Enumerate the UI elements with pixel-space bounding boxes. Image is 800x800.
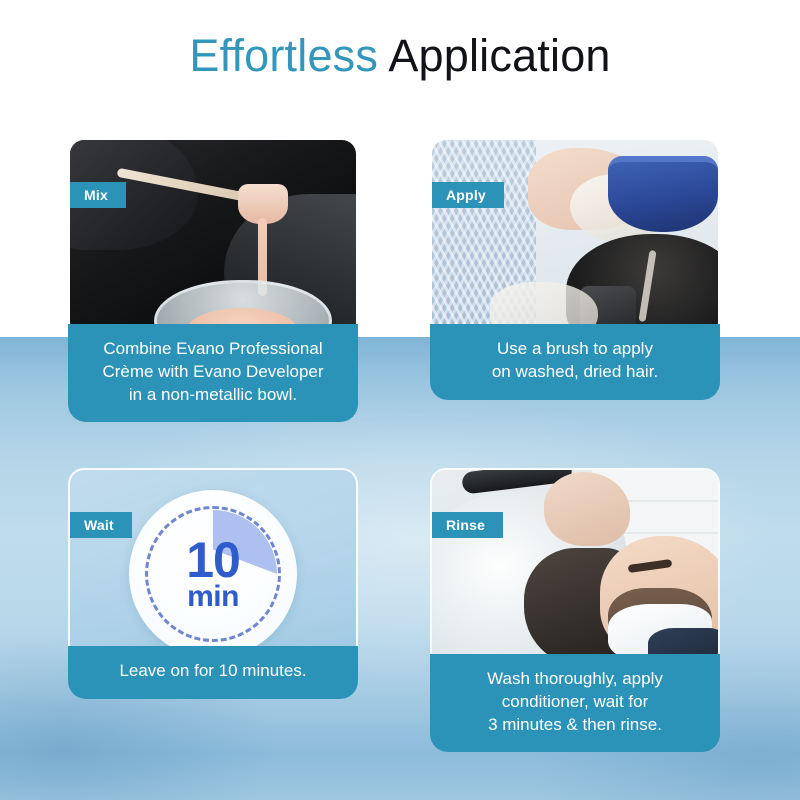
- step-image-wait: 10 min Wait: [68, 468, 358, 668]
- timer-icon: 10 min: [129, 490, 297, 658]
- step-badge-wait: Wait: [68, 512, 132, 538]
- page-title: Effortless Application: [0, 30, 800, 82]
- timer-value: 10: [186, 537, 240, 583]
- title-rest-word: Application: [388, 30, 610, 81]
- step-badge-rinse: Rinse: [430, 512, 503, 538]
- step-badge-mix: Mix: [68, 182, 126, 208]
- step-card-mix[interactable]: Mix Combine Evano Professional Crème wit…: [68, 138, 358, 422]
- badge-fold-icon: [68, 538, 70, 549]
- step-image-apply: Apply: [430, 138, 720, 338]
- caption-line: Leave on for 10 minutes.: [84, 660, 342, 683]
- timer-unit: min: [187, 583, 239, 611]
- infographic-root: Effortless Application Mix Combine Evano…: [0, 0, 800, 800]
- step-badge-apply: Apply: [430, 182, 504, 208]
- caption-line: Wash thoroughly, apply: [446, 668, 704, 691]
- caption-line: Crème with Evano Developer: [84, 361, 342, 384]
- step-image-rinse: Rinse: [430, 468, 720, 668]
- step-caption-apply: Use a brush to apply on washed, dried ha…: [430, 324, 720, 400]
- caption-line: Use a brush to apply: [446, 338, 704, 361]
- step-card-apply[interactable]: Apply Use a brush to apply on washed, dr…: [430, 138, 720, 400]
- caption-line: in a non-metallic bowl.: [84, 384, 342, 407]
- step-image-mix: Mix: [68, 138, 358, 338]
- step-caption-rinse: Wash thoroughly, apply conditioner, wait…: [430, 654, 720, 752]
- title-accent-word: Effortless: [189, 30, 378, 81]
- caption-line: on washed, dried hair.: [446, 361, 704, 384]
- step-caption-wait: Leave on for 10 minutes.: [68, 646, 358, 699]
- step-caption-mix: Combine Evano Professional Crème with Ev…: [68, 324, 358, 422]
- blue-tint-bowl-shape: [608, 156, 718, 232]
- caption-line: Combine Evano Professional: [84, 338, 342, 361]
- apply-photo-art: [432, 140, 718, 336]
- rinse-photo-art: [432, 470, 718, 666]
- caption-line: 3 minutes & then rinse.: [446, 714, 704, 737]
- caption-line: conditioner, wait for: [446, 691, 704, 714]
- step-card-wait[interactable]: 10 min Wait Leave on for 10 minutes.: [68, 468, 358, 699]
- mix-photo-art: [70, 140, 356, 336]
- step-card-rinse[interactable]: Rinse Wash thoroughly, apply conditioner…: [430, 468, 720, 752]
